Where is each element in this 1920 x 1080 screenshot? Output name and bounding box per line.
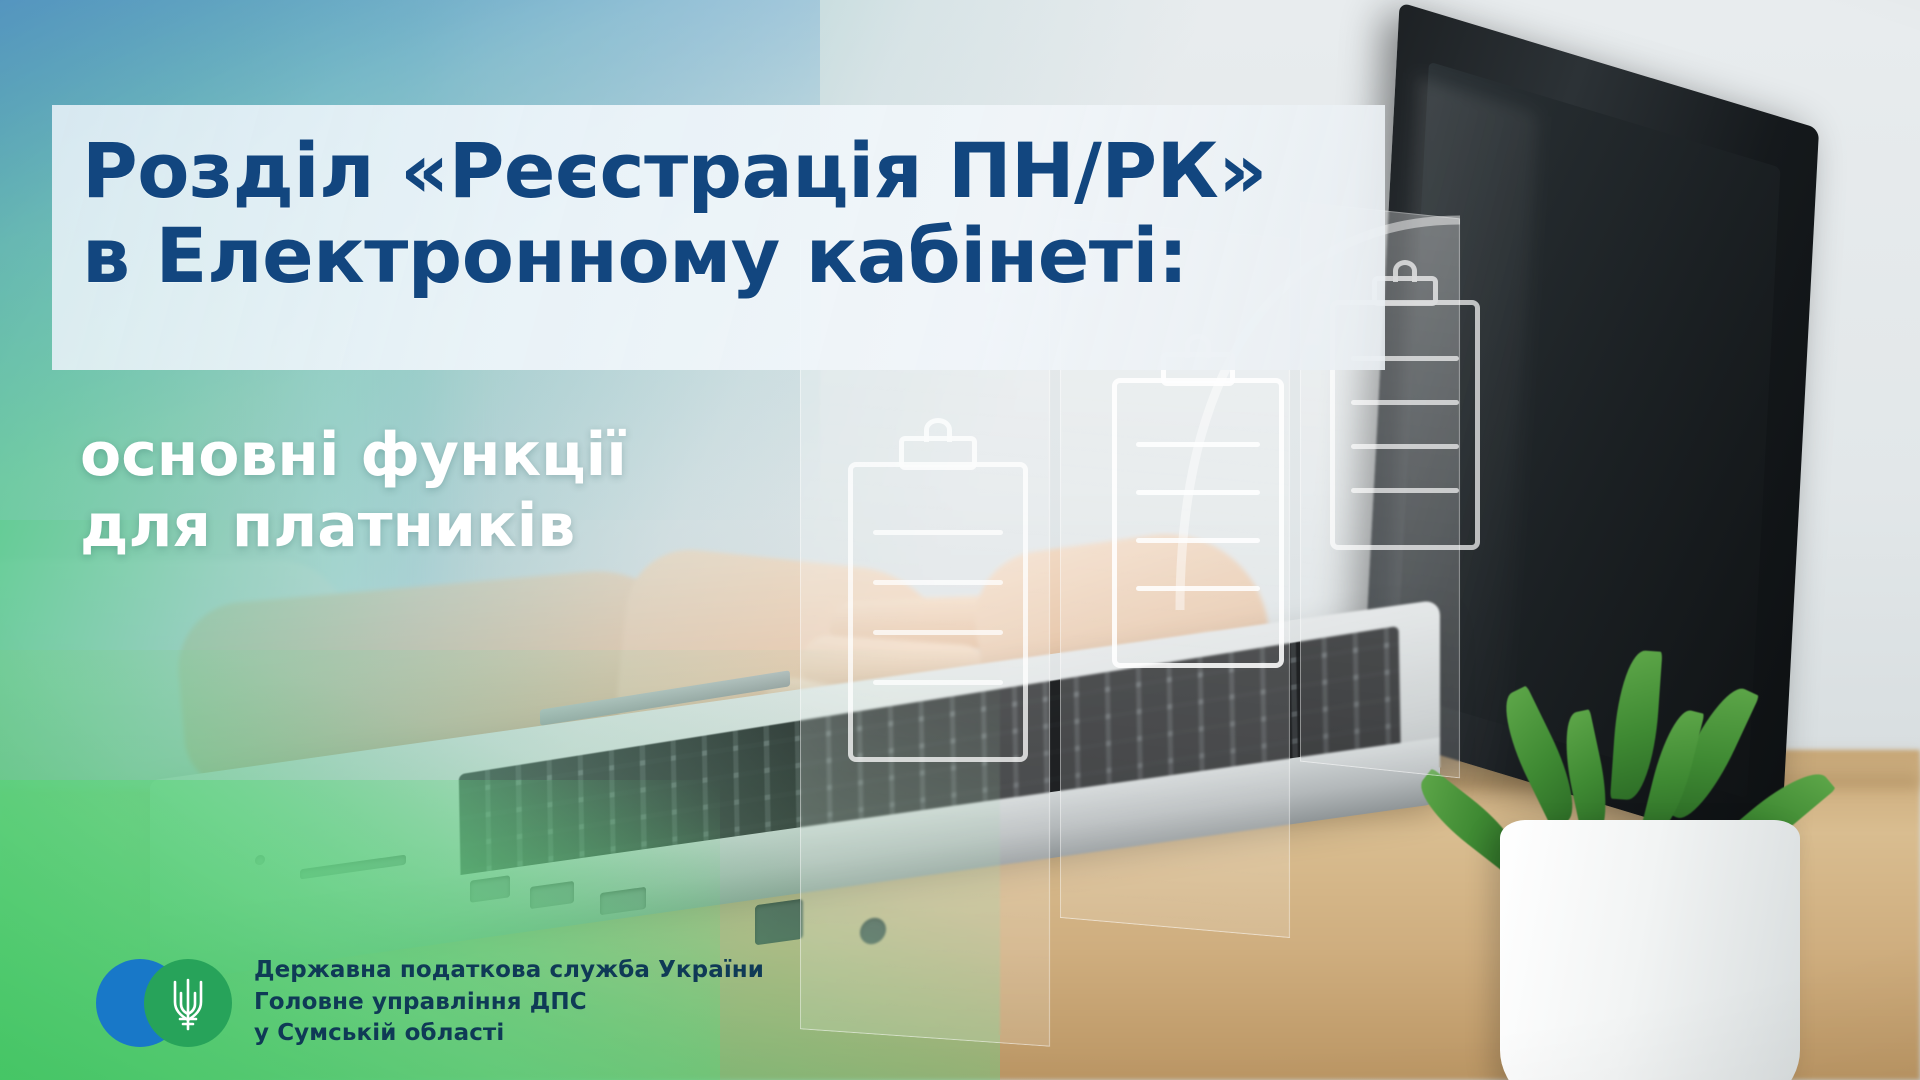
org-line-1: Державна податкова служба України bbox=[254, 955, 764, 987]
organization-name: Державна податкова служба України Головн… bbox=[254, 955, 764, 1050]
green-circle-icon bbox=[144, 959, 232, 1047]
banner-canvas: Розділ «Реєстрація ПН/РК» в Електронному… bbox=[0, 0, 1920, 1080]
ukrainian-trident-icon bbox=[166, 974, 210, 1032]
organization-logo: Державна податкова служба України Головн… bbox=[96, 955, 764, 1050]
clipboard-icon bbox=[1112, 378, 1284, 668]
page-subtitle: основні функції для платників bbox=[80, 420, 980, 562]
org-line-3: у Сумській області bbox=[254, 1018, 764, 1050]
page-title: Розділ «Реєстрація ПН/РК» в Електронному… bbox=[82, 128, 1402, 298]
org-line-2: Головне управління ДПС bbox=[254, 987, 764, 1019]
logo-marks bbox=[96, 959, 232, 1047]
